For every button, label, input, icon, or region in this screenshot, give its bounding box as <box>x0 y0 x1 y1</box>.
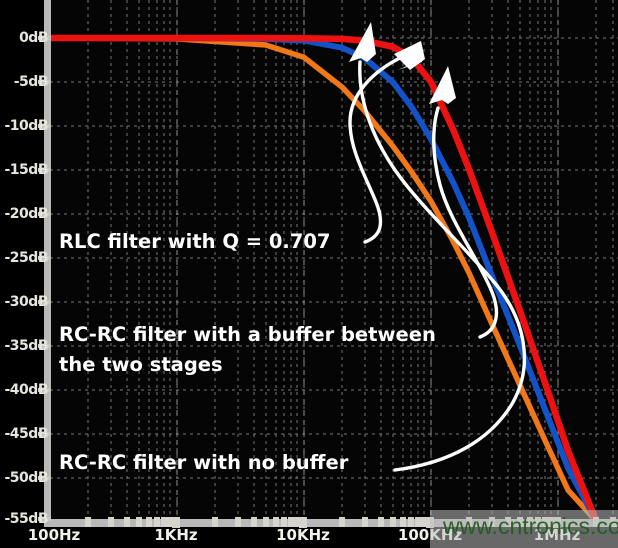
x-tickmark <box>146 517 152 527</box>
x-tick-label-100hz: 100Hz <box>28 526 81 544</box>
curve-rlc-q707 <box>50 38 596 521</box>
x-tickmark <box>136 517 142 527</box>
x-tickmark <box>339 517 345 527</box>
y-tick-label-11: -55dB <box>0 511 48 527</box>
plot-area <box>50 0 618 521</box>
x-tickmark <box>263 517 269 527</box>
x-tickmark <box>212 517 218 527</box>
chart-canvas: 0dB -5dB -10dB -15dB -20dB -25dB -30dB -… <box>0 0 618 548</box>
annotation-rc-rc-buffer-line1: RC-RC filter with a buffer between <box>59 322 436 348</box>
curves-layer <box>50 0 618 521</box>
x-tickmark <box>251 517 257 527</box>
annotation-rc-rc-buffer-line2: the two stages <box>59 352 223 378</box>
y-tick-label-0: 0dB <box>0 30 48 46</box>
y-tick-label-1: -5dB <box>0 74 48 90</box>
curve-rc-rc-no-buffer <box>50 38 596 521</box>
y-tick-label-10: -50dB <box>0 470 48 486</box>
y-tick-label-5: -25dB <box>0 250 48 266</box>
x-tickmark <box>378 517 384 527</box>
x-tickmark <box>85 517 91 527</box>
x-tickmark <box>108 517 114 527</box>
x-tickmark <box>390 517 396 527</box>
y-tick-label-7: -35dB <box>0 338 48 354</box>
x-tickmark <box>124 517 130 527</box>
y-tick-label-6: -30dB <box>0 294 48 310</box>
x-tick-label-1khz: 1KHz <box>154 526 197 544</box>
y-tick-label-3: -15dB <box>0 162 48 178</box>
curve-rc-rc-with-buffer <box>50 38 596 521</box>
annotation-rlc-filter: RLC filter with Q = 0.707 <box>59 229 331 255</box>
annotation-rc-rc-no-buffer: RC-RC filter with no buffer <box>59 450 348 476</box>
watermark-text: www.cntronics.com <box>443 513 618 540</box>
y-tick-label-2: -10dB <box>0 118 48 134</box>
y-tick-label-9: -45dB <box>0 426 48 442</box>
x-tick-label-10khz: 10KHz <box>276 526 330 544</box>
y-tick-label-8: -40dB <box>0 382 48 398</box>
y-tick-label-4: -20dB <box>0 206 48 222</box>
x-tickmark <box>235 517 241 527</box>
x-tickmark <box>362 517 368 527</box>
